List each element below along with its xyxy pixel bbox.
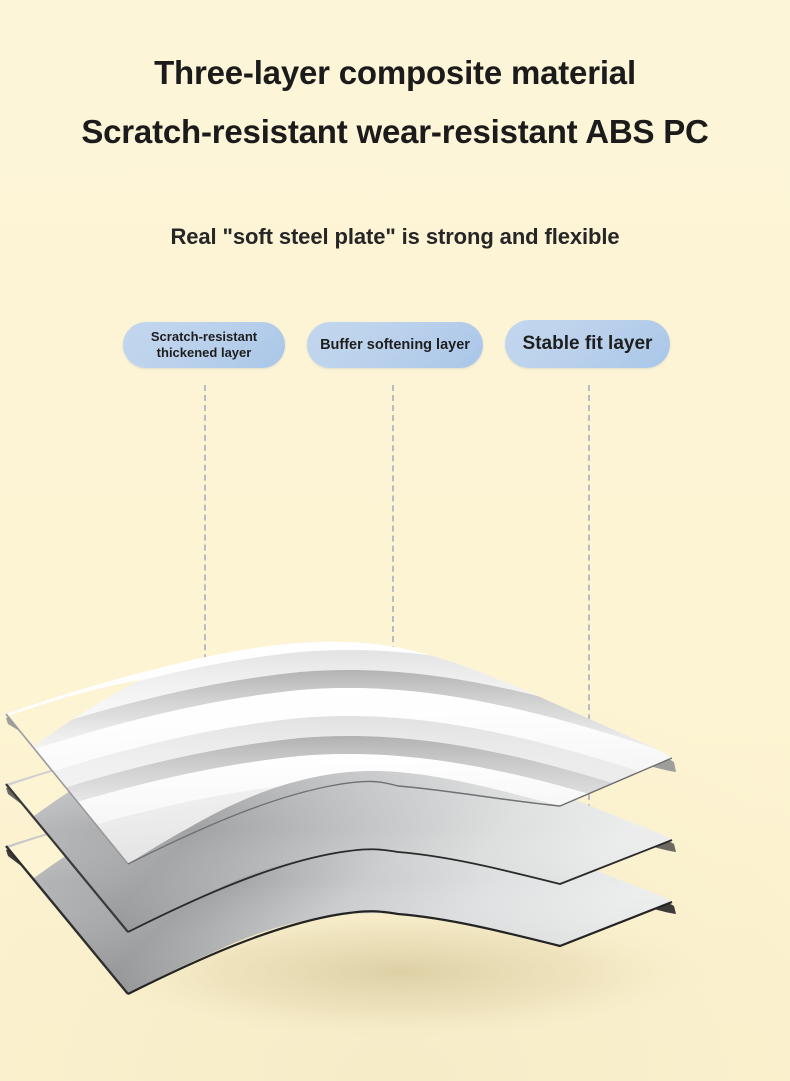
page-title-line-1: Three-layer composite material (0, 56, 790, 89)
page-title-line-2: Scratch-resistant wear-resistant ABS PC (0, 115, 790, 148)
page-subtitle: Real "soft steel plate" is strong and fl… (0, 224, 790, 250)
callout-pill-scratch-resistant-thickened-layer[interactable]: Scratch-resistant thickened layer (123, 322, 285, 368)
callout-label-line-2: thickened layer (151, 345, 257, 361)
three-layer-composite-illustration (0, 600, 790, 1050)
heading-block: Three-layer composite material Scratch-r… (0, 56, 790, 148)
callout-pill-buffer-softening-layer[interactable]: Buffer softening layer (307, 322, 483, 368)
callout-pill-stable-fit-layer[interactable]: Stable fit layer (505, 320, 670, 368)
product-infographic-page: Three-layer composite material Scratch-r… (0, 0, 790, 1081)
callout-label-line-1: Scratch-resistant (151, 329, 257, 345)
